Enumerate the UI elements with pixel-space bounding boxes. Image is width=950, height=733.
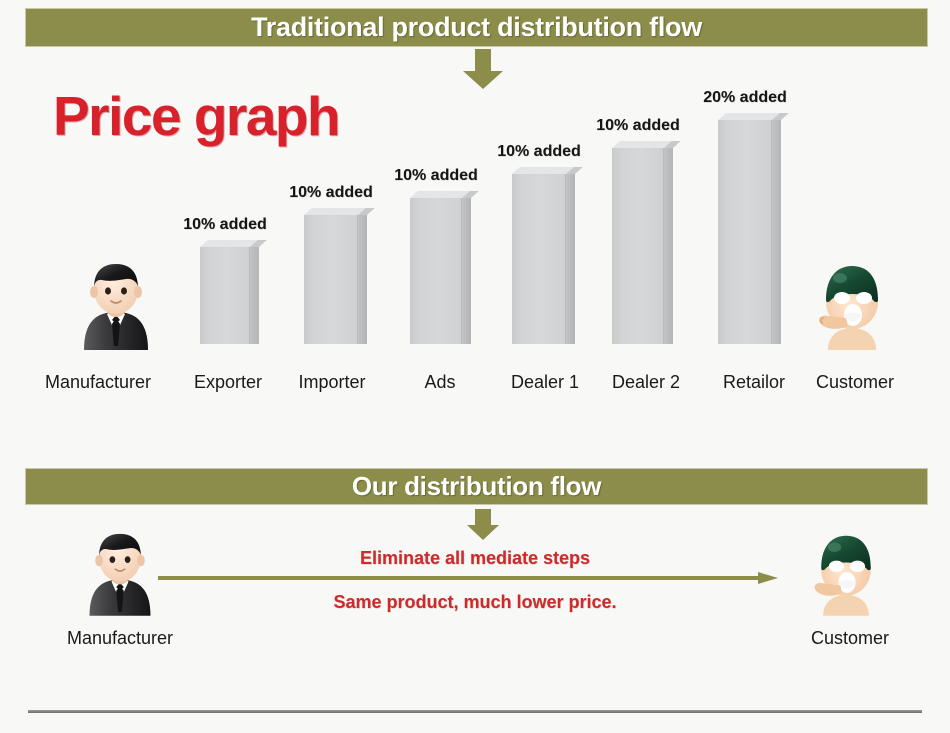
arrow-shaft: [475, 49, 491, 71]
price-graph-title: Price graph: [53, 84, 339, 148]
down-arrow-icon-top: [463, 49, 503, 89]
our-flow-banner: Our distribution flow: [25, 468, 928, 505]
bar-ads: [410, 198, 462, 344]
bar-side-face: [358, 215, 367, 344]
eliminate-steps-message: Eliminate all mediate steps: [0, 548, 950, 569]
bar-front-face: [304, 215, 358, 344]
bar-retailor: [718, 120, 772, 344]
bar-value-label: 20% added: [697, 89, 793, 107]
our-flow-banner-title: Our distribution flow: [352, 471, 601, 502]
bar-side-face: [462, 198, 471, 344]
businessman-avatar-icon: [74, 258, 158, 355]
happy-customer-avatar-icon: [810, 258, 894, 355]
bar-dealer-2: [612, 148, 664, 344]
bar-value-label: 10% added: [590, 117, 686, 135]
bar-side-face: [566, 174, 575, 344]
our-flow-start-label: Manufacturer: [30, 628, 210, 649]
bar-side-face: [772, 120, 781, 344]
bar-side-face: [250, 247, 259, 344]
traditional-flow-banner-title: Traditional product distribution flow: [251, 12, 702, 43]
arrow-tip: [758, 572, 778, 584]
bar-front-face: [410, 198, 462, 344]
traditional-flow-banner: Traditional product distribution flow: [25, 8, 928, 47]
bar-front-face: [512, 174, 566, 344]
bar-value-label: 10% added: [388, 167, 484, 185]
bottom-divider: [28, 710, 922, 713]
bar-top-face: [718, 113, 780, 120]
bar-top-face: [410, 191, 470, 198]
bar-exporter: [200, 247, 250, 344]
bar-importer: [304, 215, 358, 344]
right-arrow-icon: [158, 572, 778, 584]
arrow-shaft: [475, 509, 491, 525]
bar-side-face: [664, 148, 673, 344]
bar-front-face: [612, 148, 664, 344]
bar-top-face: [612, 141, 672, 148]
bar-front-face: [718, 120, 772, 344]
our-flow-end-label: Customer: [760, 628, 940, 649]
bar-value-label: 10% added: [491, 143, 587, 161]
bar-top-face: [304, 208, 366, 215]
down-arrow-icon-bottom: [463, 509, 503, 540]
bar-top-face: [512, 167, 574, 174]
lower-price-message: Same product, much lower price.: [0, 592, 950, 613]
arrow-head: [467, 525, 499, 540]
arrow-line: [158, 576, 758, 580]
bar-dealer-1: [512, 174, 566, 344]
infographic-canvas: Traditional product distribution flow Pr…: [0, 0, 950, 733]
bar-value-label: 10% added: [177, 216, 273, 234]
node-label-customer: Customer: [765, 372, 945, 393]
bar-value-label: 10% added: [283, 184, 379, 202]
arrow-head: [463, 71, 503, 89]
bar-front-face: [200, 247, 250, 344]
